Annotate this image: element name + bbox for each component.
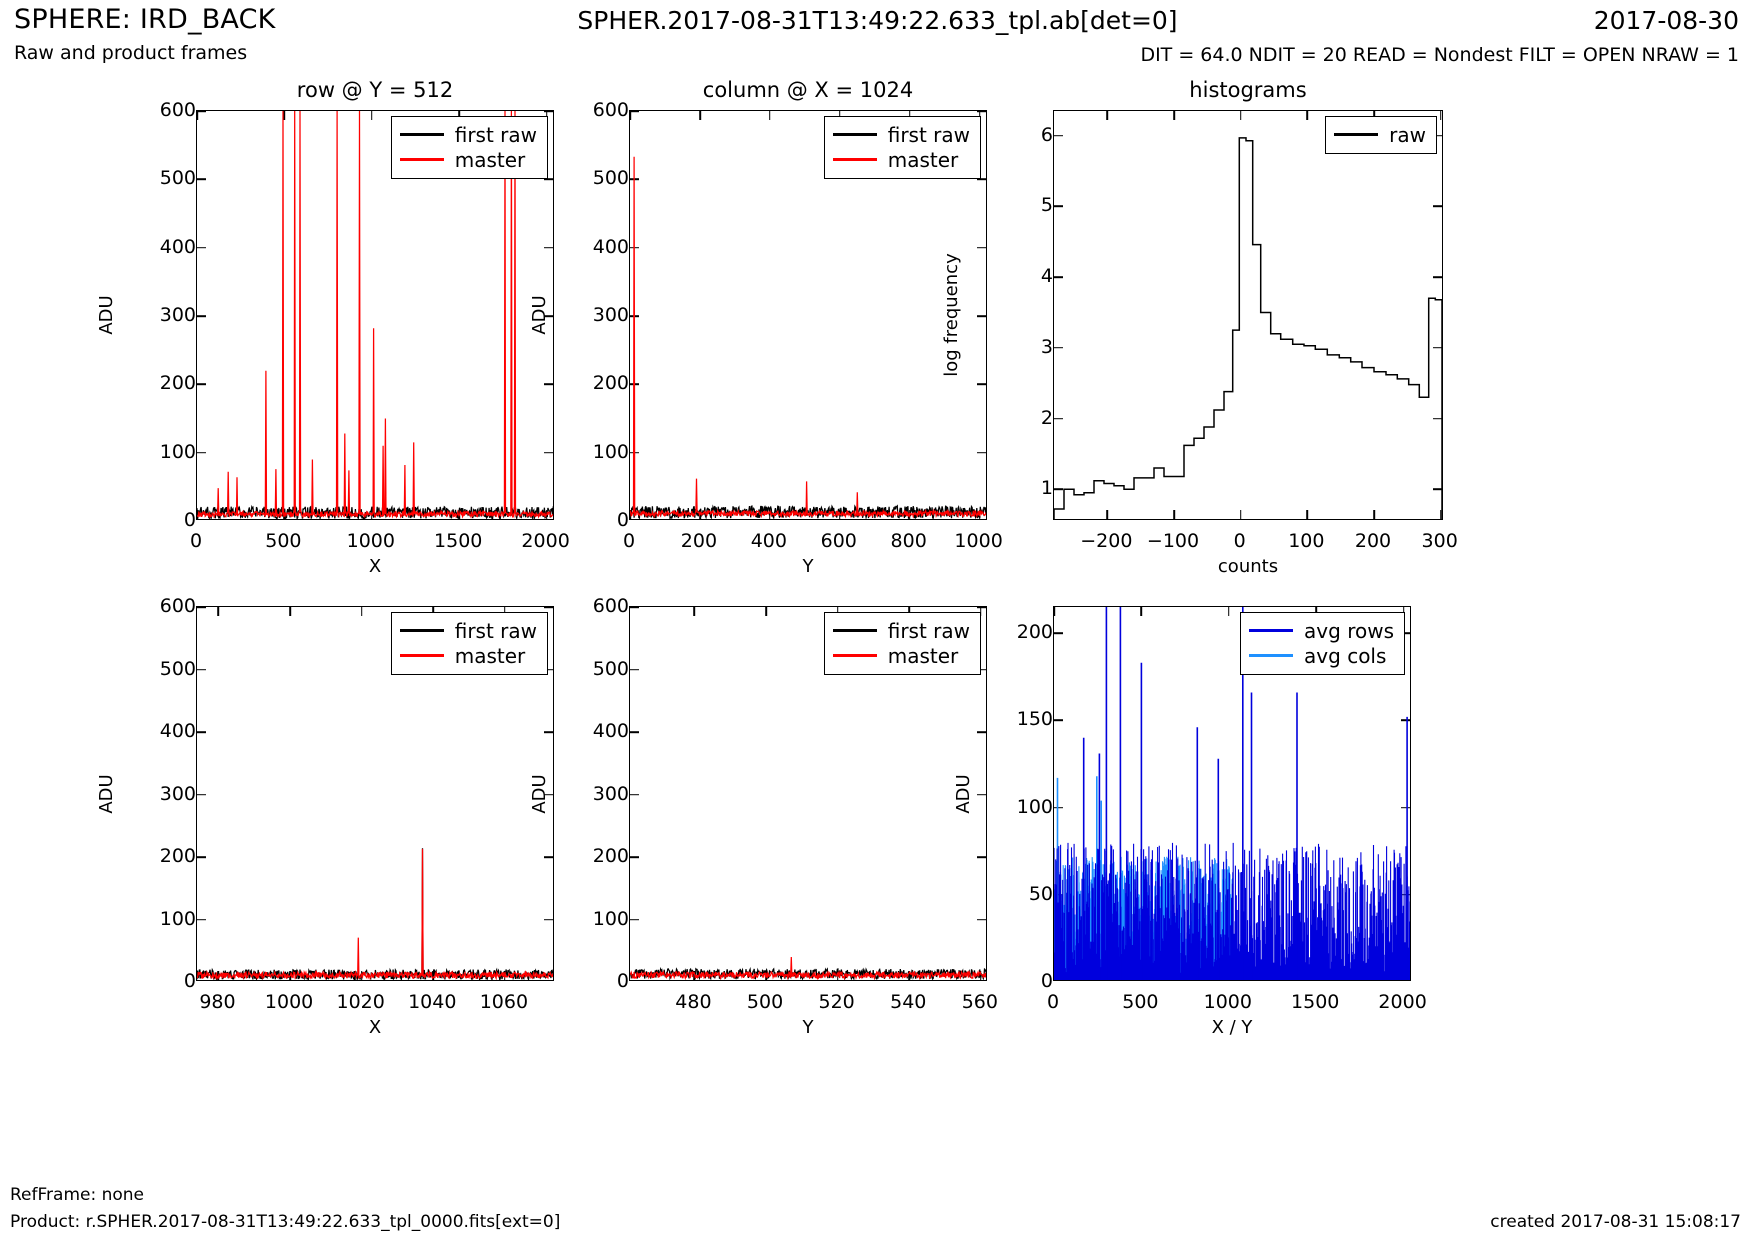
plot-area	[1053, 110, 1443, 520]
y-axis-label: ADU	[96, 295, 117, 334]
legend-line-swatch	[400, 133, 444, 135]
x-axis-label: X	[196, 1017, 554, 1038]
legend-label: first raw	[888, 125, 970, 145]
page-subtitle: Raw and product frames	[14, 42, 247, 64]
y-axis-tick-label: 200	[100, 845, 207, 867]
x-axis-tick-label: −100	[1147, 522, 1199, 552]
observation-date: 2017-08-30	[1594, 6, 1739, 35]
x-axis-tick-label: 1000	[1204, 983, 1252, 1013]
x-axis-label: Y	[629, 556, 987, 577]
plot-panel-column-x1024: column @ X = 102401002003004005006000200…	[629, 110, 987, 520]
y-axis-tick-label: 0	[100, 970, 207, 992]
legend-label: avg cols	[1304, 646, 1386, 666]
legend-entry: master	[400, 643, 537, 668]
plot-legend[interactable]: avg rowsavg cols	[1240, 612, 1405, 675]
y-axis-tick-label: 500	[100, 167, 207, 189]
legend-label: master	[888, 646, 959, 666]
x-axis-tick-label: 800	[891, 522, 927, 552]
x-axis-tick-label: 0	[1047, 983, 1059, 1013]
plot-legend[interactable]: first rawmaster	[824, 116, 981, 179]
y-axis-tick-label: 200	[100, 372, 207, 394]
legend-line-swatch	[833, 158, 877, 160]
plot-title: histograms	[1053, 78, 1443, 102]
plot-panel-row-y512: row @ Y = 512010020030040050060005001000…	[196, 110, 554, 520]
plot-legend[interactable]: first rawmaster	[391, 612, 548, 675]
y-axis-tick-label: 2	[957, 407, 1064, 429]
y-axis-tick-label: 500	[533, 658, 640, 680]
x-axis-tick-label: 1020	[336, 983, 384, 1013]
plot-traces	[1054, 111, 1443, 520]
legend-line-swatch	[400, 654, 444, 656]
x-axis-label: X	[196, 556, 554, 577]
y-axis-tick-label: 3	[957, 336, 1064, 358]
legend-entry: master	[833, 643, 970, 668]
y-axis-tick-label: 200	[533, 845, 640, 867]
plot-title: column @ X = 1024	[629, 78, 987, 102]
plot-legend[interactable]: raw	[1325, 116, 1437, 154]
y-axis-tick-label: 400	[533, 720, 640, 742]
refframe-label: RefFrame: none	[10, 1185, 144, 1205]
x-axis-tick-label: 100	[1288, 522, 1324, 552]
y-axis-tick-label: 200	[533, 372, 640, 394]
y-axis-tick-label: 600	[100, 99, 207, 121]
x-axis-tick-label: 600	[821, 522, 857, 552]
y-axis-label: ADU	[96, 774, 117, 813]
y-axis-tick-label: 0	[533, 970, 640, 992]
legend-label: first raw	[455, 125, 537, 145]
legend-entry: first raw	[400, 618, 537, 643]
x-axis-tick-label: 300	[1422, 522, 1458, 552]
frame-identifier: SPHER.2017-08-31T13:49:22.633_tpl.ab[det…	[0, 6, 1755, 35]
x-axis-tick-label: 200	[681, 522, 717, 552]
plot-title: row @ Y = 512	[196, 78, 554, 102]
x-axis-label: X / Y	[1053, 1017, 1411, 1038]
x-axis-tick-label: 400	[751, 522, 787, 552]
y-axis-label: ADU	[529, 295, 550, 334]
plot-legend[interactable]: first rawmaster	[391, 116, 548, 179]
y-axis-label: log frequency	[941, 253, 962, 376]
y-axis-tick-label: 600	[100, 595, 207, 617]
y-axis-label: ADU	[529, 774, 550, 813]
y-axis-tick-label: 400	[533, 236, 640, 258]
y-axis-tick-label: 500	[100, 658, 207, 680]
legend-label: master	[455, 646, 526, 666]
legend-line-swatch	[833, 629, 877, 631]
y-axis-tick-label: 50	[957, 883, 1064, 905]
legend-entry: avg rows	[1249, 618, 1394, 643]
plot-panel-avg-rows-cols: 0501001502000500100015002000X / YADUavg …	[1053, 606, 1411, 981]
x-axis-label: Y	[629, 1017, 987, 1038]
qc-report-page: SPHERE: IRD_BACK Raw and product frames …	[0, 0, 1755, 1245]
created-label: created 2017-08-31 15:08:17	[1490, 1212, 1741, 1232]
x-axis-tick-label: 1500	[434, 522, 482, 552]
x-axis-tick-label: 200	[1355, 522, 1391, 552]
y-axis-tick-label: 1	[957, 477, 1064, 499]
y-axis-tick-label: 100	[533, 908, 640, 930]
legend-label: raw	[1389, 125, 1426, 145]
y-axis-tick-label: 400	[100, 236, 207, 258]
x-axis-tick-label: 2000	[1378, 983, 1426, 1013]
legend-entry: first raw	[833, 618, 970, 643]
legend-line-swatch	[833, 654, 877, 656]
product-label: Product: r.SPHER.2017-08-31T13:49:22.633…	[10, 1212, 560, 1232]
y-axis-tick-label: 100	[533, 441, 640, 463]
x-axis-tick-label: 980	[199, 983, 235, 1013]
y-axis-tick-label: 600	[533, 99, 640, 121]
y-axis-tick-label: 100	[100, 441, 207, 463]
y-axis-tick-label: 100	[100, 908, 207, 930]
legend-line-swatch	[833, 133, 877, 135]
x-axis-tick-label: 1060	[480, 983, 528, 1013]
y-axis-tick-label: 5	[957, 194, 1064, 216]
plot-panel-column-zoom: 0100200300400500600480500520540560YADUfi…	[629, 606, 987, 981]
y-axis-tick-label: 500	[533, 167, 640, 189]
y-axis-tick-label: 4	[957, 265, 1064, 287]
legend-entry: avg cols	[1249, 643, 1394, 668]
x-axis-tick-label: 500	[747, 983, 783, 1013]
y-axis-label: ADU	[953, 774, 974, 813]
legend-entry: first raw	[400, 122, 537, 147]
x-axis-tick-label: 1000	[954, 522, 1002, 552]
x-axis-tick-label: 500	[265, 522, 301, 552]
plot-legend[interactable]: first rawmaster	[824, 612, 981, 675]
legend-entry: master	[400, 147, 537, 172]
x-axis-tick-label: 1000	[347, 522, 395, 552]
x-axis-tick-label: 1000	[265, 983, 313, 1013]
plot-panel-row-zoom: 01002003004005006009801000102010401060XA…	[196, 606, 554, 981]
x-axis-tick-label: 0	[623, 522, 635, 552]
legend-entry: raw	[1334, 122, 1426, 147]
legend-entry: master	[833, 147, 970, 172]
x-axis-tick-label: 1040	[408, 983, 456, 1013]
legend-label: first raw	[888, 621, 970, 641]
plot-panel-histograms: histograms123456−200−1000100200300counts…	[1053, 110, 1443, 520]
x-axis-tick-label: 480	[675, 983, 711, 1013]
x-axis-tick-label: 0	[190, 522, 202, 552]
y-axis-tick-label: 150	[957, 708, 1064, 730]
legend-entry: first raw	[833, 122, 970, 147]
instrument-settings: DIT = 64.0 NDIT = 20 READ = Nondest FILT…	[1140, 44, 1739, 66]
legend-line-swatch	[1249, 629, 1293, 631]
x-axis-label: counts	[1053, 556, 1443, 577]
legend-label: avg rows	[1304, 621, 1394, 641]
y-axis-tick-label: 600	[533, 595, 640, 617]
legend-line-swatch	[400, 629, 444, 631]
x-axis-tick-label: 520	[818, 983, 854, 1013]
legend-label: first raw	[455, 621, 537, 641]
x-axis-tick-label: 500	[1122, 983, 1158, 1013]
legend-line-swatch	[1249, 654, 1293, 656]
y-axis-tick-label: 400	[100, 720, 207, 742]
x-axis-tick-label: 1500	[1291, 983, 1339, 1013]
legend-line-swatch	[400, 158, 444, 160]
x-axis-tick-label: −200	[1080, 522, 1132, 552]
legend-label: master	[888, 150, 959, 170]
legend-label: master	[455, 150, 526, 170]
x-axis-tick-label: 0	[1234, 522, 1246, 552]
x-axis-tick-label: 540	[890, 983, 926, 1013]
legend-line-swatch	[1334, 133, 1378, 135]
